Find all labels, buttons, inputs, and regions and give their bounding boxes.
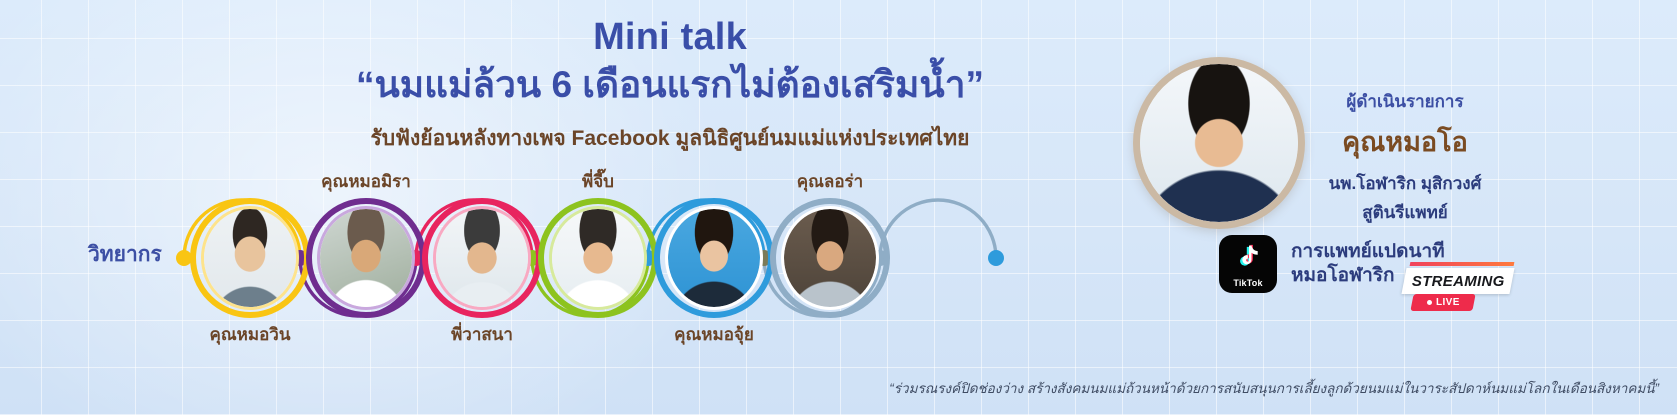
speaker-name-3: พี่วาสนา	[352, 321, 612, 348]
speaker-avatar-3	[433, 206, 531, 310]
channel-name-line1: การแพทย์แปดนาที	[1291, 240, 1445, 264]
speaker-avatar-5	[665, 206, 763, 310]
streaming-accent-bar	[1410, 262, 1515, 266]
title-block: Mini talk “นมแม่ล้วน 6 เดือนแรกไม่ต้องเส…	[300, 16, 1040, 155]
host-nickname: คุณหมอโอ	[1255, 120, 1555, 163]
speaker-card-1[interactable]: คุณหมอวิน	[190, 198, 310, 318]
webinar-banner: Mini talk “นมแม่ล้วน 6 เดือนแรกไม่ต้องเส…	[0, 0, 1677, 415]
speaker-card-5[interactable]: คุณหมอจุ้ย	[654, 198, 774, 318]
replay-subtitle: รับฟังย้อนหลังทางเพจ Facebook มูลนิธิศูน…	[300, 122, 1040, 155]
speaker-card-6[interactable]: คุณลอร่า	[770, 198, 890, 318]
talk-topic-title: “นมแม่ล้วน 6 เดือนแรกไม่ต้องเสริมน้ำ”	[300, 63, 1040, 107]
speaker-name-6: คุณลอร่า	[700, 168, 960, 195]
speaker-avatar-4	[549, 206, 647, 310]
host-info: ผู้ดำเนินรายการ คุณหมอโอ นพ.โอฬาริก มุสิ…	[1255, 88, 1555, 226]
speaker-ring-6	[770, 198, 890, 318]
streaming-badge: STREAMING	[1401, 268, 1514, 294]
speaker-avatar-1	[201, 206, 299, 310]
bottom-caption: “ร่วมรณรงค์ปิดช่องว่าง สร้างสังคมนมแม่ถ้…	[0, 377, 1659, 399]
speaker-name-4: พี่จี๊บ	[468, 168, 728, 195]
speaker-ring-1	[190, 198, 310, 318]
speaker-name-5: คุณหมอจุ้ย	[584, 321, 844, 348]
speaker-avatar-2	[317, 206, 415, 310]
live-dot-icon	[1427, 300, 1432, 305]
speaker-chain: วิทยากร คุณหมอวิน	[72, 178, 1082, 348]
speaker-ring-5	[654, 198, 774, 318]
streaming-label: STREAMING	[1412, 273, 1505, 290]
tiktok-icon[interactable]: TikTok	[1219, 235, 1277, 293]
speaker-name-2: คุณหมอมิรา	[236, 168, 496, 195]
speaker-card-3[interactable]: พี่วาสนา	[422, 198, 542, 318]
live-badge: LIVE	[1410, 294, 1475, 311]
live-label: LIVE	[1436, 297, 1460, 308]
speaker-ring-2	[306, 198, 426, 318]
speaker-ring-3	[422, 198, 542, 318]
speaker-card-2[interactable]: คุณหมอมิรา	[306, 198, 426, 318]
speaker-ring-4	[538, 198, 658, 318]
tiktok-wordmark: TikTok	[1219, 278, 1277, 288]
host-full-name: นพ.โอฬาริก มุสิกวงศ์	[1255, 170, 1555, 197]
tiktok-note-glyph	[1231, 242, 1265, 276]
page-title: Mini talk	[300, 16, 1040, 59]
speaker-name-1: คุณหมอวิน	[120, 321, 380, 348]
host-role-label: ผู้ดำเนินรายการ	[1255, 88, 1555, 115]
speaker-card-4[interactable]: พี่จี๊บ	[538, 198, 658, 318]
host-specialty: สูตินรีแพทย์	[1255, 199, 1555, 226]
speaker-avatar-6	[781, 206, 879, 310]
